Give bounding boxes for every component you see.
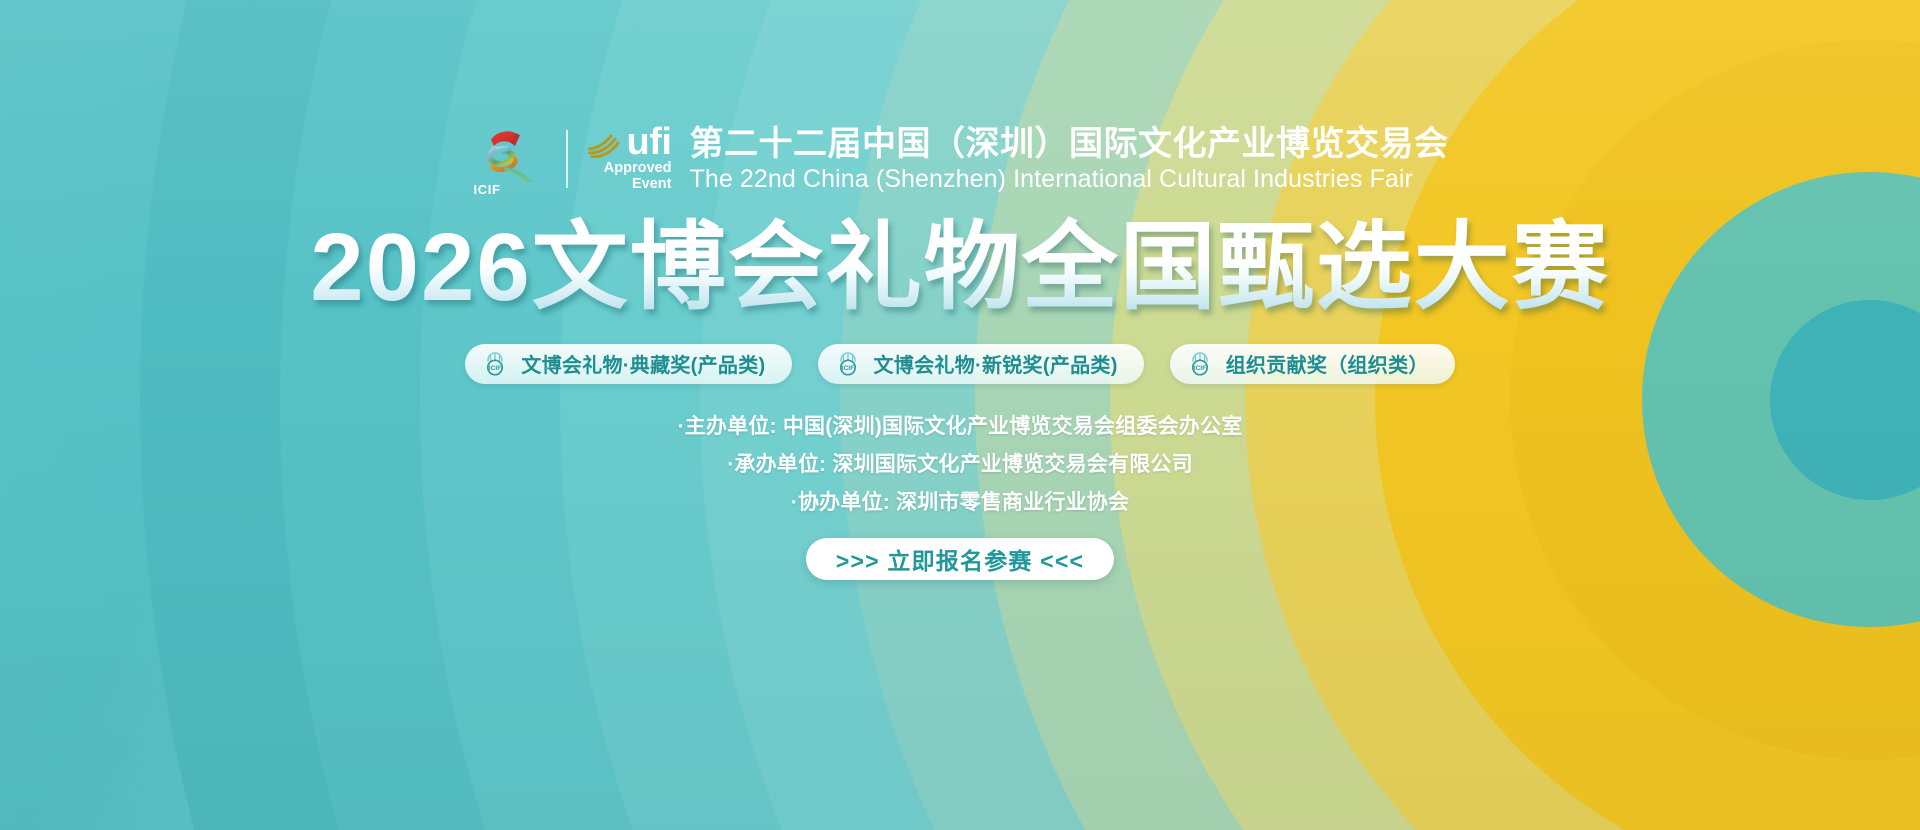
icif-logo: ICIF (472, 122, 544, 196)
fair-name-en: The 22nd China (Shenzhen) International … (689, 167, 1448, 192)
ufi-logo: ufi Approved Event (588, 126, 672, 193)
award-pill-list: ICIF 文博会礼物·典藏奖(产品类) ICIF 文博会礼物·新锐奖(产品类) (465, 344, 1454, 384)
icif-badge-icon: ICIF (481, 350, 509, 378)
award-pill-label: 组织贡献奖（组织类） (1226, 349, 1429, 378)
ufi-approved-line2: Event (604, 176, 672, 192)
icif-wordmark: ICIF (474, 183, 501, 196)
award-pill-xinrui[interactable]: ICIF 文博会礼物·新锐奖(产品类) (818, 344, 1144, 384)
organizer-undertaker: ·承办单位: 深圳国际文化产业博览交易会有限公司 (727, 448, 1193, 478)
ufi-wordmark: ufi (627, 126, 672, 158)
award-pill-dianzang[interactable]: ICIF 文博会礼物·典藏奖(产品类) (465, 344, 791, 384)
svg-text:ICIF: ICIF (489, 365, 501, 372)
fair-name-cn: 第二十二届中国（深圳）国际文化产业博览交易会 (689, 127, 1448, 161)
ufi-approved-label: Approved Event (604, 160, 672, 192)
svg-text:ICIF: ICIF (841, 365, 853, 372)
icif-badge-icon: ICIF (1186, 350, 1214, 378)
promo-banner: ICIF ufi Approved Ev (0, 0, 1920, 830)
organizer-coorganizer: ·协办单位: 深圳市零售商业行业协会 (791, 486, 1129, 516)
ufi-swoosh-icon (588, 132, 624, 158)
icif-badge-icon: ICIF (834, 350, 862, 378)
organizer-list: ·主办单位: 中国(深圳)国际文化产业博览交易会组委会办公室 ·承办单位: 深圳… (678, 410, 1243, 516)
ufi-top-row: ufi (588, 126, 672, 158)
award-pill-label: 文博会礼物·新锐奖(产品类) (874, 349, 1118, 378)
svg-text:ICIF: ICIF (1193, 365, 1205, 372)
icif-ribbon-logo-icon (475, 126, 541, 182)
fair-name-block: 第二十二届中国（深圳）国际文化产业博览交易会 The 22nd China (S… (689, 127, 1448, 192)
banner-content: ICIF ufi Approved Ev (0, 0, 1920, 830)
register-now-button[interactable]: >>> 立即报名参赛 <<< (806, 538, 1114, 580)
logo-divider (566, 130, 568, 188)
page-title: 2026文博会礼物全国甄选大赛 (310, 214, 1610, 322)
award-pill-label: 文博会礼物·典藏奖(产品类) (521, 349, 765, 378)
header-lockup: ICIF ufi Approved Ev (472, 122, 1449, 196)
award-pill-zuzhi[interactable]: ICIF 组织贡献奖（组织类） (1170, 344, 1455, 384)
organizer-host: ·主办单位: 中国(深圳)国际文化产业博览交易会组委会办公室 (678, 410, 1243, 440)
ufi-approved-line1: Approved (604, 160, 672, 176)
